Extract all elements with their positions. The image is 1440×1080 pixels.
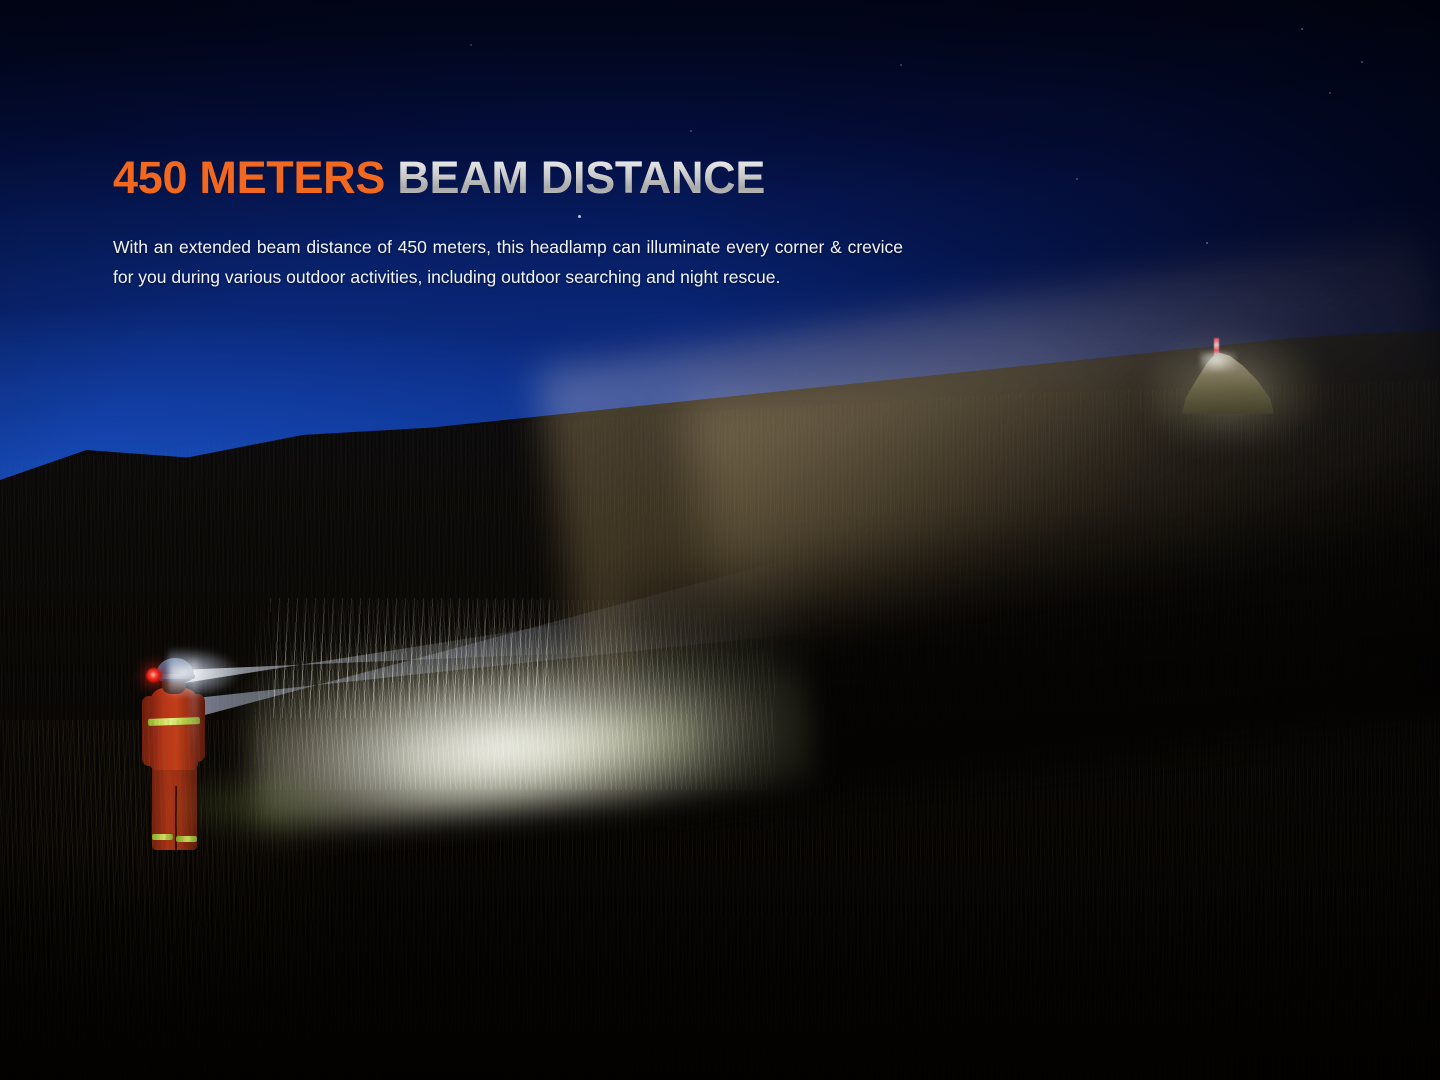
beam-distance-hero-image: 450 METERS BEAM DISTANCE With an extende…: [0, 0, 1440, 1080]
rear-red-light: [146, 668, 162, 683]
page-title: 450 METERS BEAM DISTANCE: [113, 152, 765, 204]
rock-highlight: [1200, 352, 1236, 372]
headline-rest: BEAM DISTANCE: [385, 152, 765, 203]
foreground-green-patch: [170, 770, 350, 840]
summit-flag: [1214, 338, 1219, 355]
headline-accent: 450 METERS: [113, 152, 385, 203]
description-paragraph: With an extended beam distance of 450 me…: [113, 232, 903, 292]
tall-lit-grass: [270, 598, 550, 718]
headlamp-source-glow: [168, 648, 238, 696]
